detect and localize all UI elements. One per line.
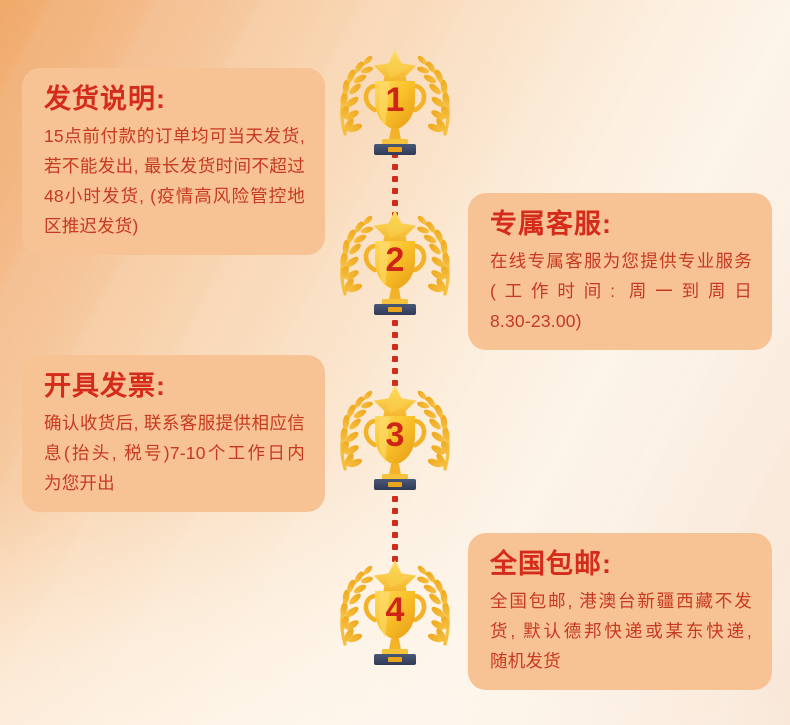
- connector-dot: [392, 532, 398, 538]
- connector-dot: [392, 508, 398, 514]
- cup-stem: [389, 464, 401, 475]
- connector-dot: [392, 368, 398, 374]
- connector-dot: [392, 356, 398, 362]
- trophy-icon: 1: [335, 42, 455, 162]
- laurel-wreath-right: [416, 54, 450, 134]
- card-line: 区推迟发货): [44, 211, 305, 241]
- laurel-wreath-right: [416, 564, 450, 644]
- card-body-shipping: 15点前付款的订单均可当天发货, 若不能发出, 最长发货时间不超过 48小时发货…: [44, 121, 305, 241]
- card-line: 货, 默认德邦快递或某东快递,: [490, 616, 752, 646]
- laurel-wreath-right: [416, 389, 450, 469]
- info-card-invoice: 开具发票: 确认收货后, 联系客服提供相应信 息(抬头, 税号)7-10个工作日…: [22, 355, 325, 512]
- card-line: 为您开出: [44, 468, 305, 498]
- card-title-shipping: 发货说明:: [44, 84, 305, 115]
- card-line: 若不能发出, 最长发货时间不超过: [44, 151, 305, 181]
- trophy-badge-4: 4: [335, 552, 455, 672]
- trophy-icon: 4: [335, 552, 455, 672]
- laurel-wreath-left: [339, 214, 373, 294]
- badge-rank-number: 4: [386, 591, 405, 629]
- laurel-wreath-left: [339, 389, 373, 469]
- card-body-customer-service: 在线专属客服为您提供专业服务 (工作时间: 周一到周日 8.30-23.00): [490, 246, 752, 336]
- trophy-icon: 3: [335, 377, 455, 497]
- card-line: 全国包邮, 港澳台新疆西藏不发: [490, 586, 752, 616]
- card-line: 确认收货后, 联系客服提供相应信: [44, 408, 305, 438]
- connector-dot: [392, 176, 398, 182]
- info-card-free-shipping: 全国包邮: 全国包邮, 港澳台新疆西藏不发 货, 默认德邦快递或某东快递, 随机…: [468, 533, 772, 690]
- info-card-shipping: 发货说明: 15点前付款的订单均可当天发货, 若不能发出, 最长发货时间不超过 …: [22, 68, 325, 255]
- card-line: 随机发货: [490, 646, 752, 676]
- card-body-free-shipping: 全国包邮, 港澳台新疆西藏不发 货, 默认德邦快递或某东快递, 随机发货: [490, 586, 752, 676]
- connector-dot: [392, 544, 398, 550]
- connector-dot: [392, 344, 398, 350]
- card-line: 息(抬头, 税号)7-10个工作日内: [44, 438, 305, 468]
- card-line: 48小时发货, (疫情高风险管控地: [44, 181, 305, 211]
- card-line: (工作时间: 周一到周日: [490, 276, 752, 306]
- laurel-wreath-left: [339, 564, 373, 644]
- laurel-wreath-right: [416, 214, 450, 294]
- badge-rank-number: 3: [386, 416, 405, 454]
- trophy-badge-3: 3: [335, 377, 455, 497]
- card-title-invoice: 开具发票:: [44, 371, 305, 402]
- badge-rank-number: 1: [386, 81, 405, 119]
- connector-dot: [392, 164, 398, 170]
- card-body-invoice: 确认收货后, 联系客服提供相应信 息(抬头, 税号)7-10个工作日内 为您开出: [44, 408, 305, 498]
- cup-stem: [389, 289, 401, 300]
- info-card-customer-service: 专属客服: 在线专属客服为您提供专业服务 (工作时间: 周一到周日 8.30-2…: [468, 193, 772, 350]
- trophy-icon: 2: [335, 202, 455, 322]
- card-title-free-shipping: 全国包邮:: [490, 549, 752, 580]
- trophy-timeline: 1 2: [335, 0, 455, 725]
- service-info-poster: 发货说明: 15点前付款的订单均可当天发货, 若不能发出, 最长发货时间不超过 …: [0, 0, 790, 725]
- card-line: 15点前付款的订单均可当天发货,: [44, 121, 305, 151]
- connector-dot: [392, 520, 398, 526]
- connector-dot: [392, 188, 398, 194]
- card-title-customer-service: 专属客服:: [490, 209, 752, 240]
- cup-stem: [389, 129, 401, 140]
- trophy-badge-1: 1: [335, 42, 455, 162]
- cup-stem: [389, 639, 401, 650]
- card-line: 在线专属客服为您提供专业服务: [490, 246, 752, 276]
- connector-dot: [392, 332, 398, 338]
- card-line: 8.30-23.00): [490, 306, 752, 336]
- laurel-wreath-left: [339, 54, 373, 134]
- badge-rank-number: 2: [386, 241, 405, 279]
- trophy-badge-2: 2: [335, 202, 455, 322]
